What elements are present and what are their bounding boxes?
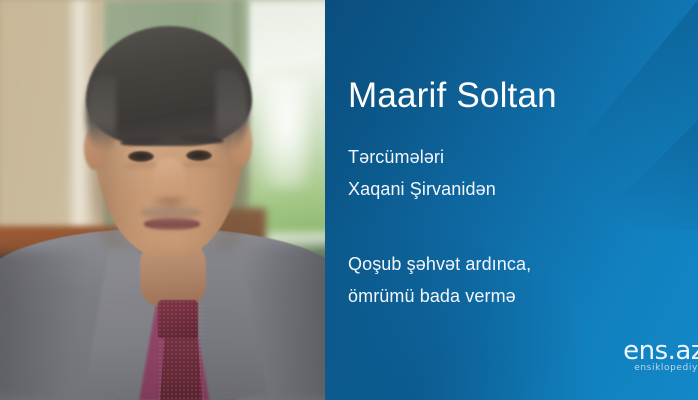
- logo-tagline: ensiklopediya: [606, 363, 698, 374]
- quote-line-1: Qoşub şəhvət ardınca,: [348, 254, 531, 275]
- ens-az-logo[interactable]: ens.az ensiklopediya: [606, 338, 698, 378]
- mouth: [144, 218, 200, 230]
- eye-right: [186, 150, 212, 161]
- subtitle-line-1: Tərcümələri: [348, 147, 444, 168]
- necktie-pattern: [158, 300, 204, 400]
- person-figure: [0, 0, 325, 400]
- portrait-photo: [0, 0, 325, 400]
- chin: [140, 232, 204, 254]
- eye-left: [128, 151, 154, 162]
- quote-card: Maarif Soltan Tərcümələri Xaqani Şirvani…: [0, 0, 698, 400]
- panel-content: Maarif Soltan Tərcümələri Xaqani Şirvani…: [348, 0, 698, 400]
- logo-wordmark: ens.az: [606, 338, 698, 364]
- quote-line-2: ömrümü bada vermə: [348, 286, 516, 307]
- page-title: Maarif Soltan: [348, 76, 557, 116]
- text-panel: Maarif Soltan Tərcümələri Xaqani Şirvani…: [325, 0, 698, 400]
- subtitle-line-2: Xaqani Şirvanidən: [348, 179, 496, 200]
- hair-temple-left: [86, 76, 116, 152]
